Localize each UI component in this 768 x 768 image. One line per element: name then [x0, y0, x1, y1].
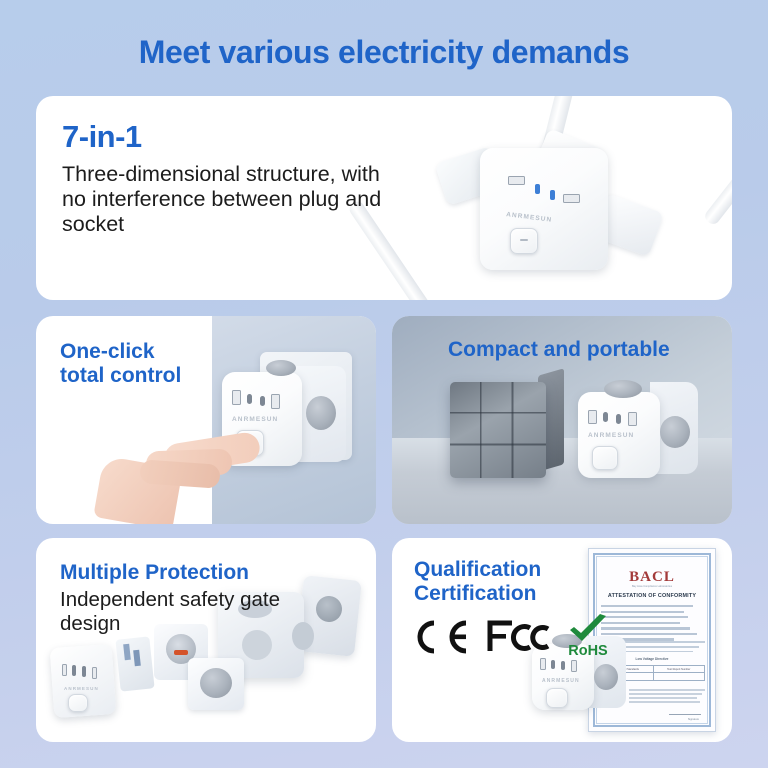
certificate-table-header-1: Test Report Number — [654, 666, 705, 672]
certificate-issuer-subtitle: Bay Area Compliance Laboratories — [589, 585, 715, 588]
rohs-mark: RoHS — [566, 614, 610, 659]
card-qualification-headline: Qualification Certification — [414, 558, 541, 605]
card-7in1: 7-in-1 Three-dimensional structure, with… — [36, 96, 732, 300]
page-title: Meet various electricity demands — [0, 34, 768, 71]
card-qualification-brand-label: ANRMESUN — [542, 678, 580, 684]
card-7in1-product-photo: ANRMESUN — [402, 96, 732, 300]
card-one-click-brand-label: ANRMESUN — [232, 416, 278, 423]
card-multiple-protection: Multiple Protection Independent safety g… — [36, 538, 376, 742]
card-compact-headline: Compact and portable — [448, 338, 670, 362]
card-compact-brand-label: ANRMESUN — [588, 432, 634, 439]
card-protection-headline: Multiple Protection — [60, 561, 249, 585]
fcc-mark-icon — [486, 620, 552, 654]
card-protection-body: Independent safety gate design — [60, 588, 290, 636]
certification-marks: RoHS — [410, 614, 610, 659]
card-protection-brand-label: ANRMESUN — [64, 686, 99, 691]
card-7in1-power-icon — [520, 239, 528, 241]
rohs-check-icon — [566, 614, 610, 646]
card-compact: Compact and portable ANRMESUN — [392, 316, 732, 524]
certificate-title: ATTESTATION OF CONFORMITY — [589, 593, 715, 599]
card-one-click: One-click total control ANRMESUN — [36, 316, 376, 524]
card-7in1-headline: 7-in-1 — [62, 120, 142, 155]
certificate-signature: Signature — [688, 718, 699, 721]
card-qualification: Qualification Certification RoHS BACL Ba… — [392, 538, 732, 742]
card-7in1-body: Three-dimensional structure, with no int… — [62, 162, 392, 237]
ce-mark-icon — [410, 620, 472, 654]
card-one-click-headline: One-click total control — [60, 340, 181, 387]
rohs-label: RoHS — [568, 643, 607, 659]
certificate-issuer: BACL — [589, 569, 715, 586]
